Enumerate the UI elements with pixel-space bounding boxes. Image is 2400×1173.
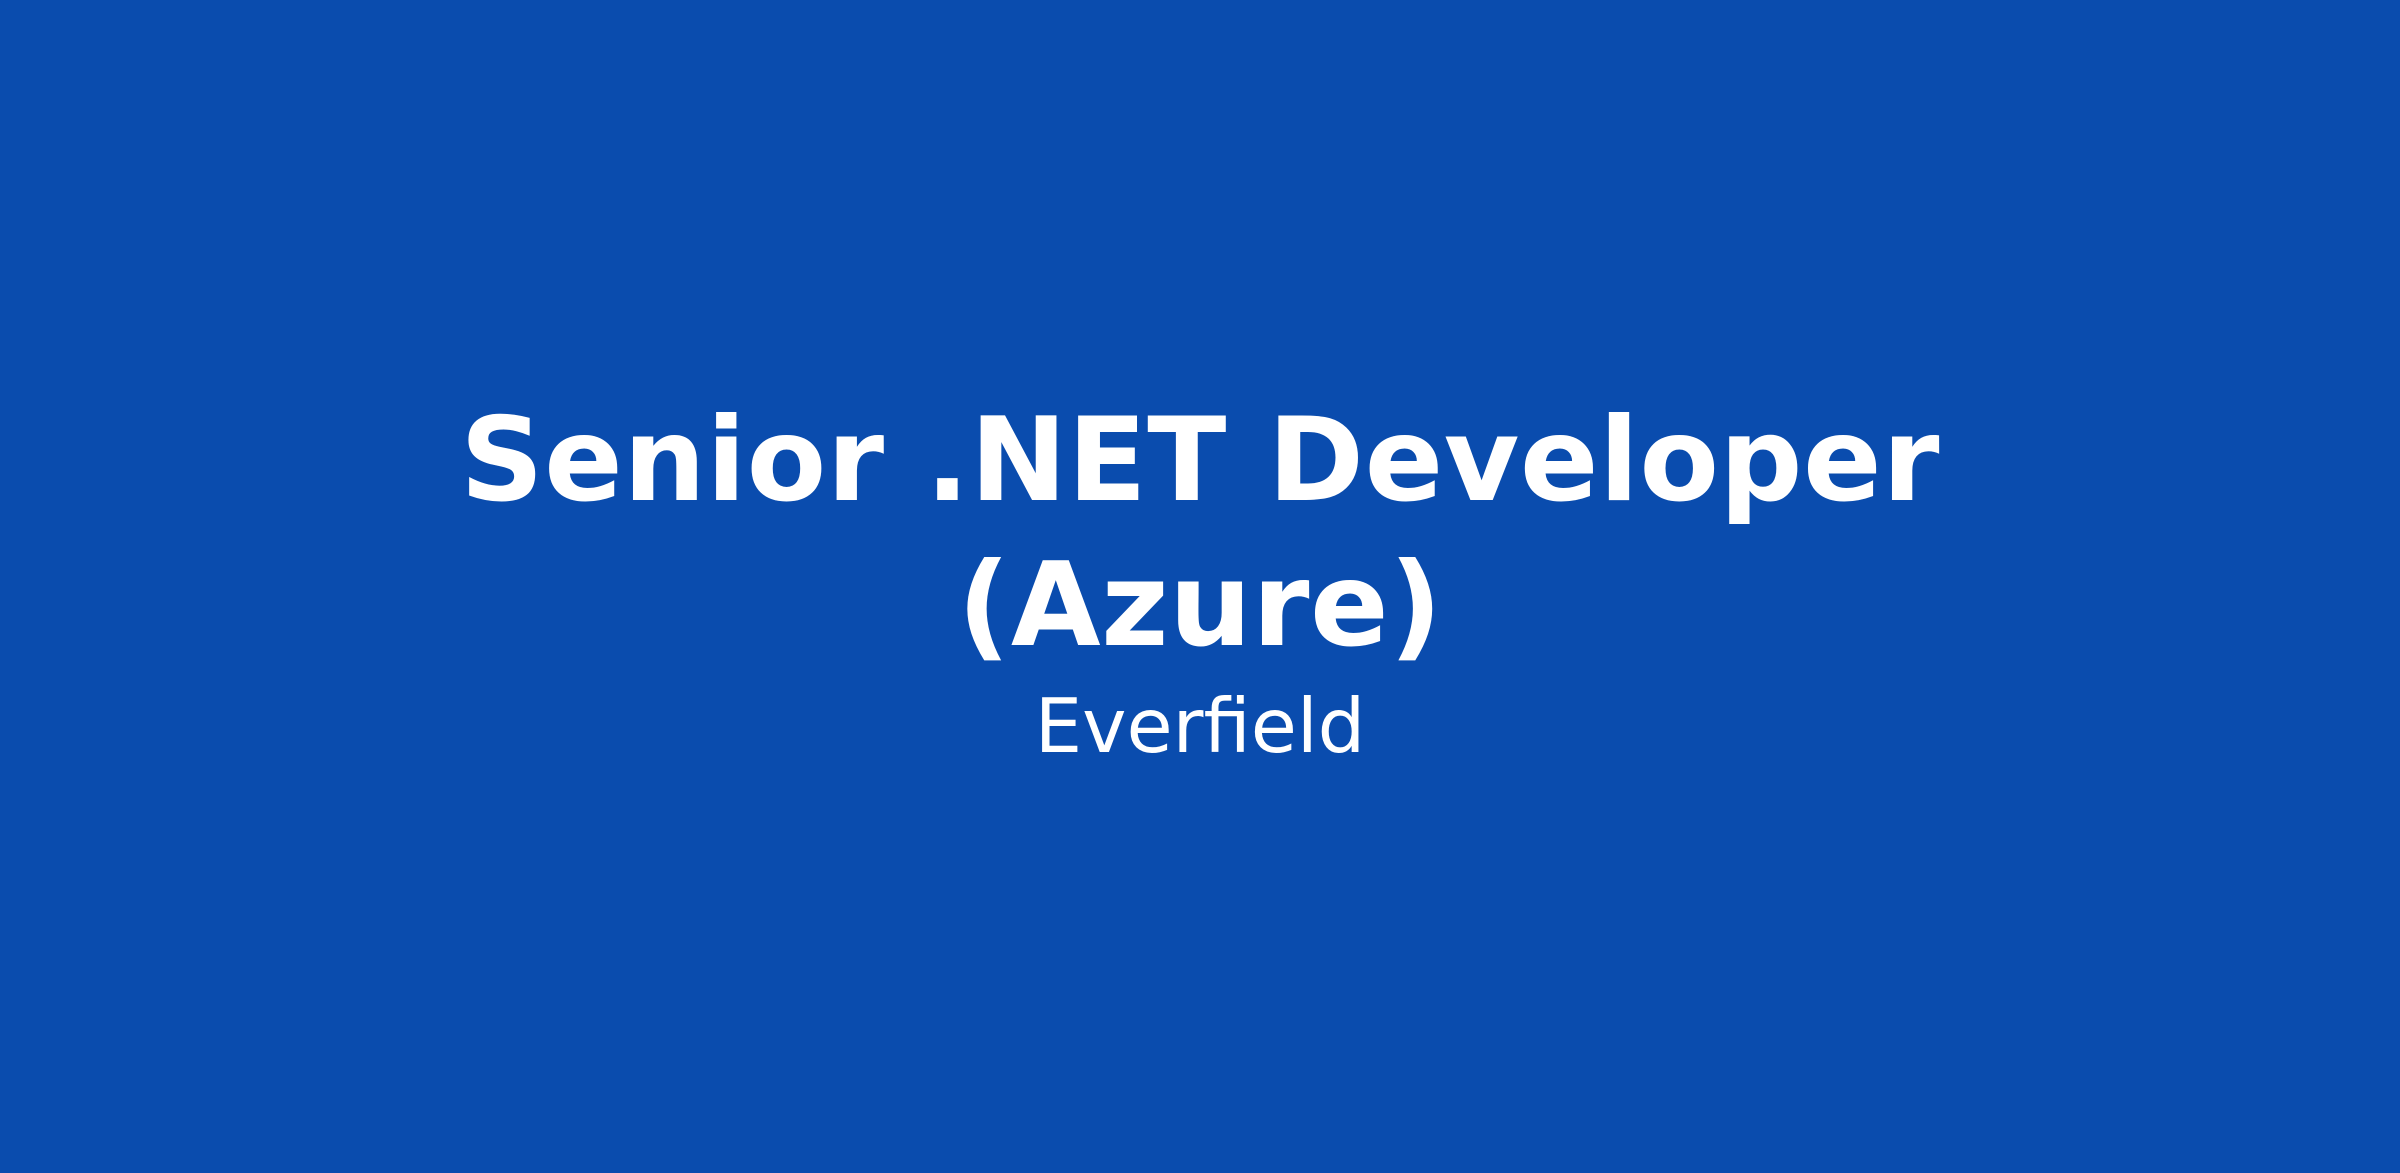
page-title: Senior .NET Developer (Azure) — [400, 388, 2000, 678]
job-card: Senior .NET Developer (Azure) Everfield — [0, 0, 2400, 1173]
hero-text-block: Senior .NET Developer (Azure) Everfield — [0, 388, 2400, 774]
company-name: Everfield — [1035, 678, 1366, 774]
